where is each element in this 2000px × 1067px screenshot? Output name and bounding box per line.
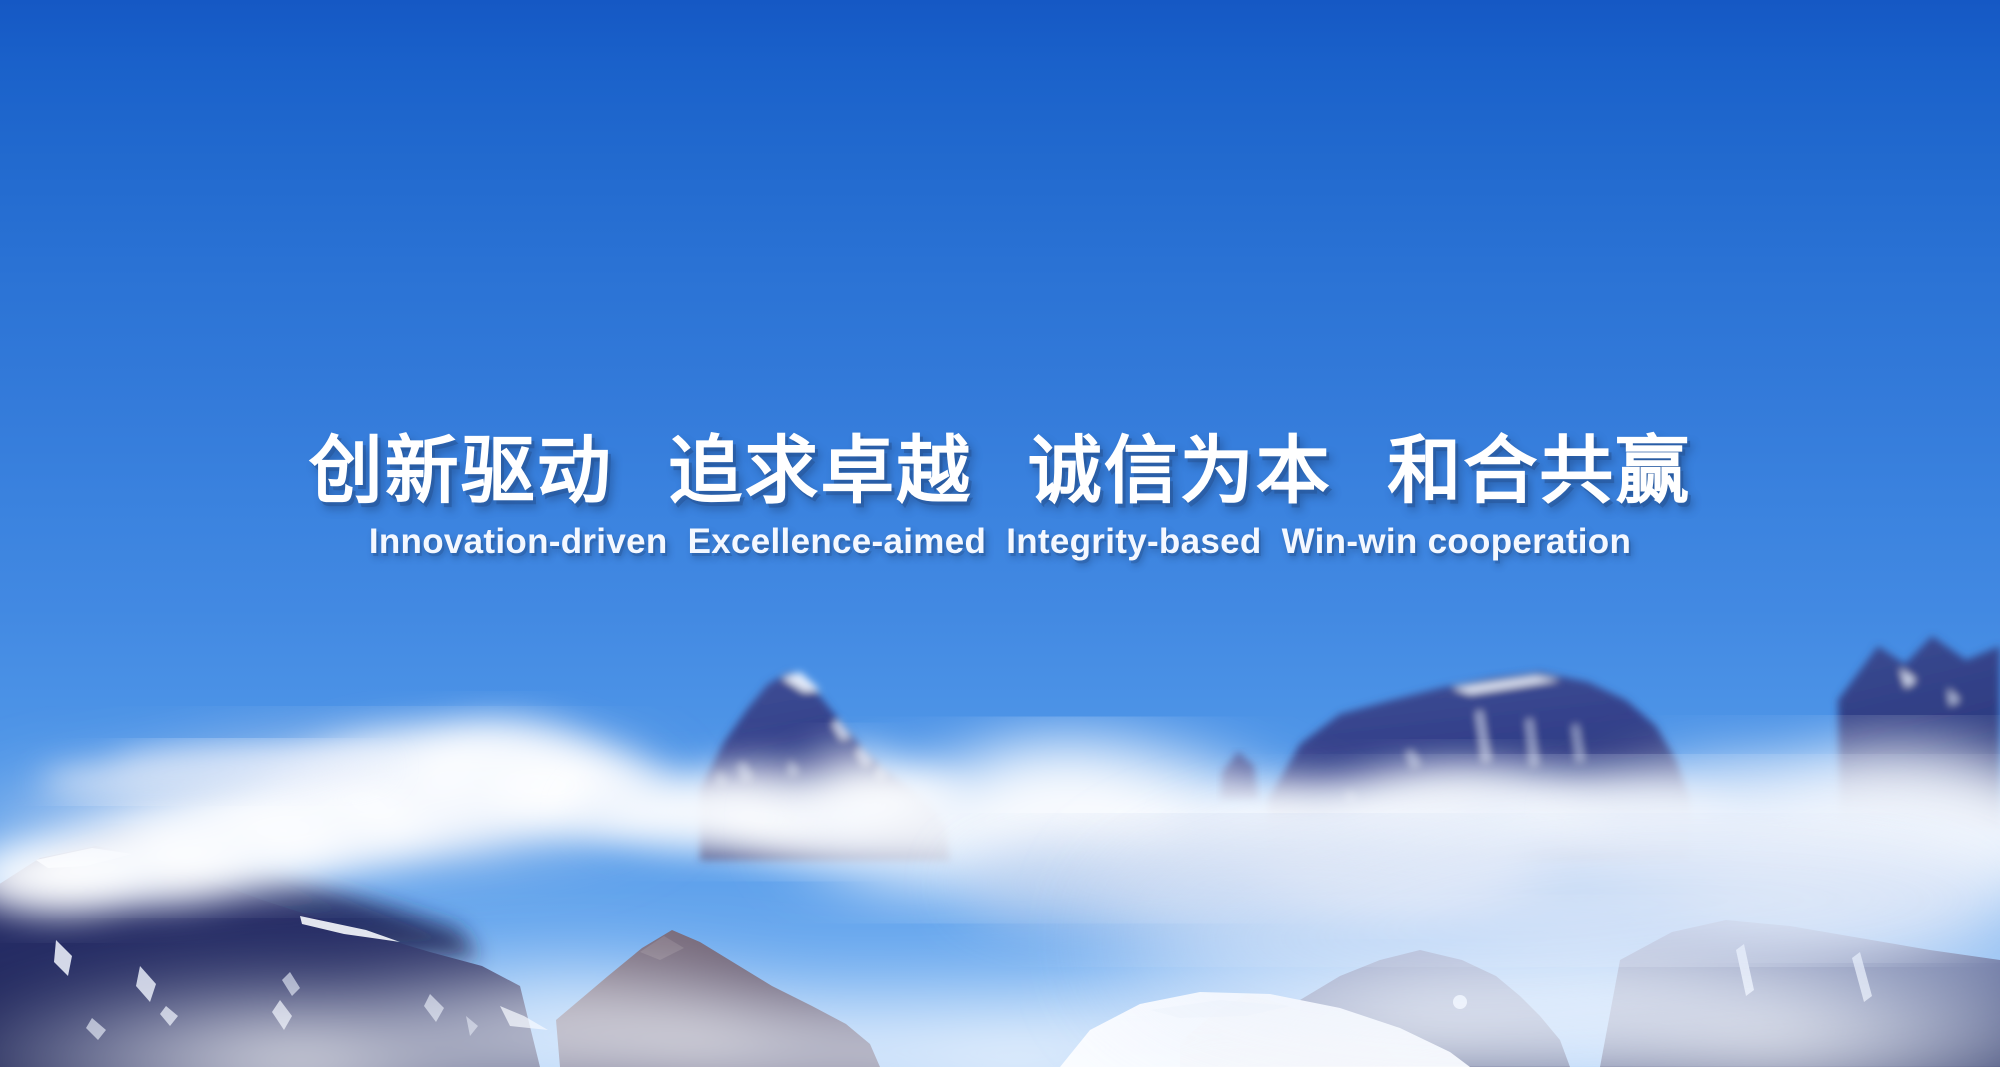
banner-stage: 创新驱动 追求卓越 诚信为本 和合共赢 Innovation-driven Ex… [0,0,2000,1067]
slogan-english: Innovation-driven Excellence-aimed Integ… [0,522,2000,562]
slogan-chinese: 创新驱动 追求卓越 诚信为本 和合共赢 [0,432,2000,512]
slogan-block: 创新驱动 追求卓越 诚信为本 和合共赢 Innovation-driven Ex… [0,432,2000,562]
